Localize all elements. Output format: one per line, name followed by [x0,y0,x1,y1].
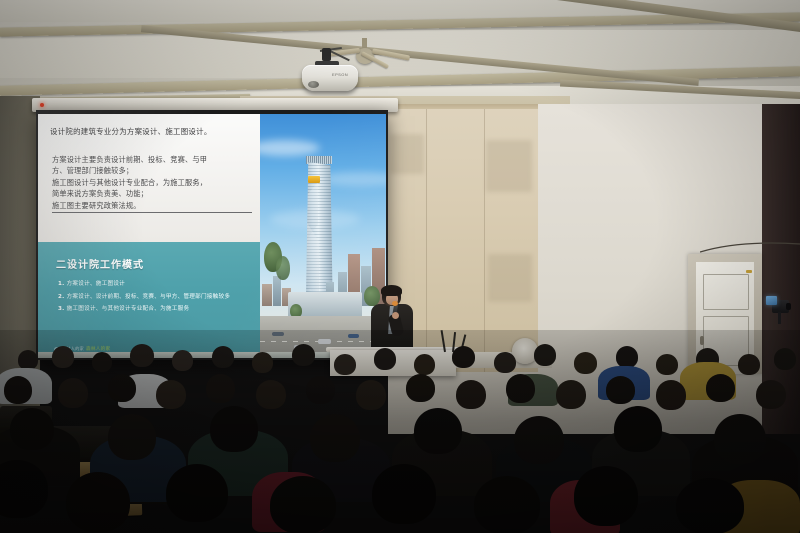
slide-body-line: 施工图主要研究政策法规。 [52,200,252,213]
projector-body: EPSON [302,65,358,91]
camcorder [766,292,792,322]
audience-head [574,352,597,374]
screen-power-led [40,103,44,107]
slide-heading-line: 设计院的建筑专业分为方案设计、施工图设计。 [50,126,254,137]
audience-head [356,380,386,410]
audience-head [456,380,486,409]
audience-head [474,476,540,533]
audience [0,330,800,533]
slide-body-line: 施工图设计与其他设计专业配合，为施工服务， [52,177,252,188]
audience-head [256,380,286,409]
slide-body-line: 方案设计主要负责设计前期、投标、竞赛、与甲 [52,154,252,165]
projector-mount [322,48,331,61]
audience-head [656,354,678,375]
presenter-hand [392,312,399,319]
lecture-hall-photo: EPSON 设计院的建筑专业分为方案设计、施工图设计。 [0,0,800,533]
tower-signage [308,176,320,183]
audience-head [58,378,88,408]
audience-head [494,352,516,373]
audience-head [92,352,112,372]
audience-head [534,344,556,366]
audience-head [756,380,786,409]
microphone-head-icon [392,301,398,306]
presentation-slide: 设计院的建筑专业分为方案设计、施工图设计。 方案设计主要负责设计前期、投标、竞赛… [38,114,386,358]
audience-head [52,346,74,368]
audience-head [506,374,535,403]
audience-head [406,374,435,402]
audience-head [252,352,273,373]
list-item: 3. 施工图设计、与其他设计专业配合、为施工服务 [58,303,254,316]
audience-head [334,354,356,375]
audience-head [10,408,54,450]
audience-head [374,348,396,370]
audience-head [414,408,462,454]
projection-screen: 设计院的建筑专业分为方案设计、施工图设计。 方案设计主要负责设计前期、投标、竞赛… [36,110,388,360]
audience-head [270,476,336,533]
camcorder-stand [778,312,781,324]
audience-head [574,466,638,526]
audience-head [414,354,435,375]
projector-brand-label: EPSON [332,72,348,77]
audience-head [4,376,32,404]
list-item-number: 2. [58,294,65,300]
list-item-text: 方案设计、施工图设计 [67,281,125,287]
audience-head [18,350,38,370]
audience-head [656,380,686,410]
audience-head [372,464,436,524]
audience-head [306,376,335,404]
door-latch [746,270,752,273]
list-item-text: 施工图设计、与其他设计专业配合、为施工服务 [67,306,190,312]
list-item-number: 3. [58,306,65,312]
slide-body-text: 方案设计主要负责设计前期、投标、竞赛、与甲 方、管理部门接触较多； 施工图设计与… [52,154,252,213]
audience-head [212,346,234,368]
list-item-text: 方案设计、设计前期、投标、竞赛、与甲方、管理部门接触较多 [67,294,231,300]
audience-head [66,472,130,532]
audience-head [206,374,235,403]
audience-head [614,406,662,452]
audience-head [310,414,360,462]
projector-lens [308,81,319,88]
audience-head [172,350,193,371]
audience-head [130,344,154,367]
ceiling-cable [700,238,800,258]
audience-head [606,376,635,404]
audience-head [714,414,766,464]
audience-head [514,416,564,464]
audience-head [166,464,228,522]
audience-head [210,406,258,452]
audience-head [706,374,735,402]
audience-head [774,348,796,370]
list-item: 2. 方案设计、设计前期、投标、竞赛、与甲方、管理部门接触较多 [58,291,254,304]
audience-head [676,478,744,533]
audience-head [108,414,156,460]
audience-head [616,346,638,368]
slide-text-panel: 设计院的建筑专业分为方案设计、施工图设计。 方案设计主要负责设计前期、投标、竞赛… [38,114,260,242]
slide-numbered-list: 1. 方案设计、施工图设计 2. 方案设计、设计前期、投标、竞赛、与甲方、管理部… [58,278,254,316]
audience-head [108,374,136,402]
audience-head [452,346,475,368]
slide-body-line: 方、管理部门接触较多； [52,165,252,176]
presenter-hair [381,285,402,296]
camcorder-lens [786,303,791,310]
list-item: 1. 方案设计、施工图设计 [58,278,254,291]
camcorder-lcd-screen [766,296,777,305]
audience-head [292,344,315,366]
audience-head [156,380,186,409]
list-item-number: 1. [58,281,65,287]
audience-head [738,354,760,375]
projector: EPSON [302,46,372,96]
audience-head [556,380,586,409]
slide-section-heading: 二设计院工作模式 [56,256,144,271]
slide-body-line: 简单来说方案负责美、功能； [52,188,252,199]
